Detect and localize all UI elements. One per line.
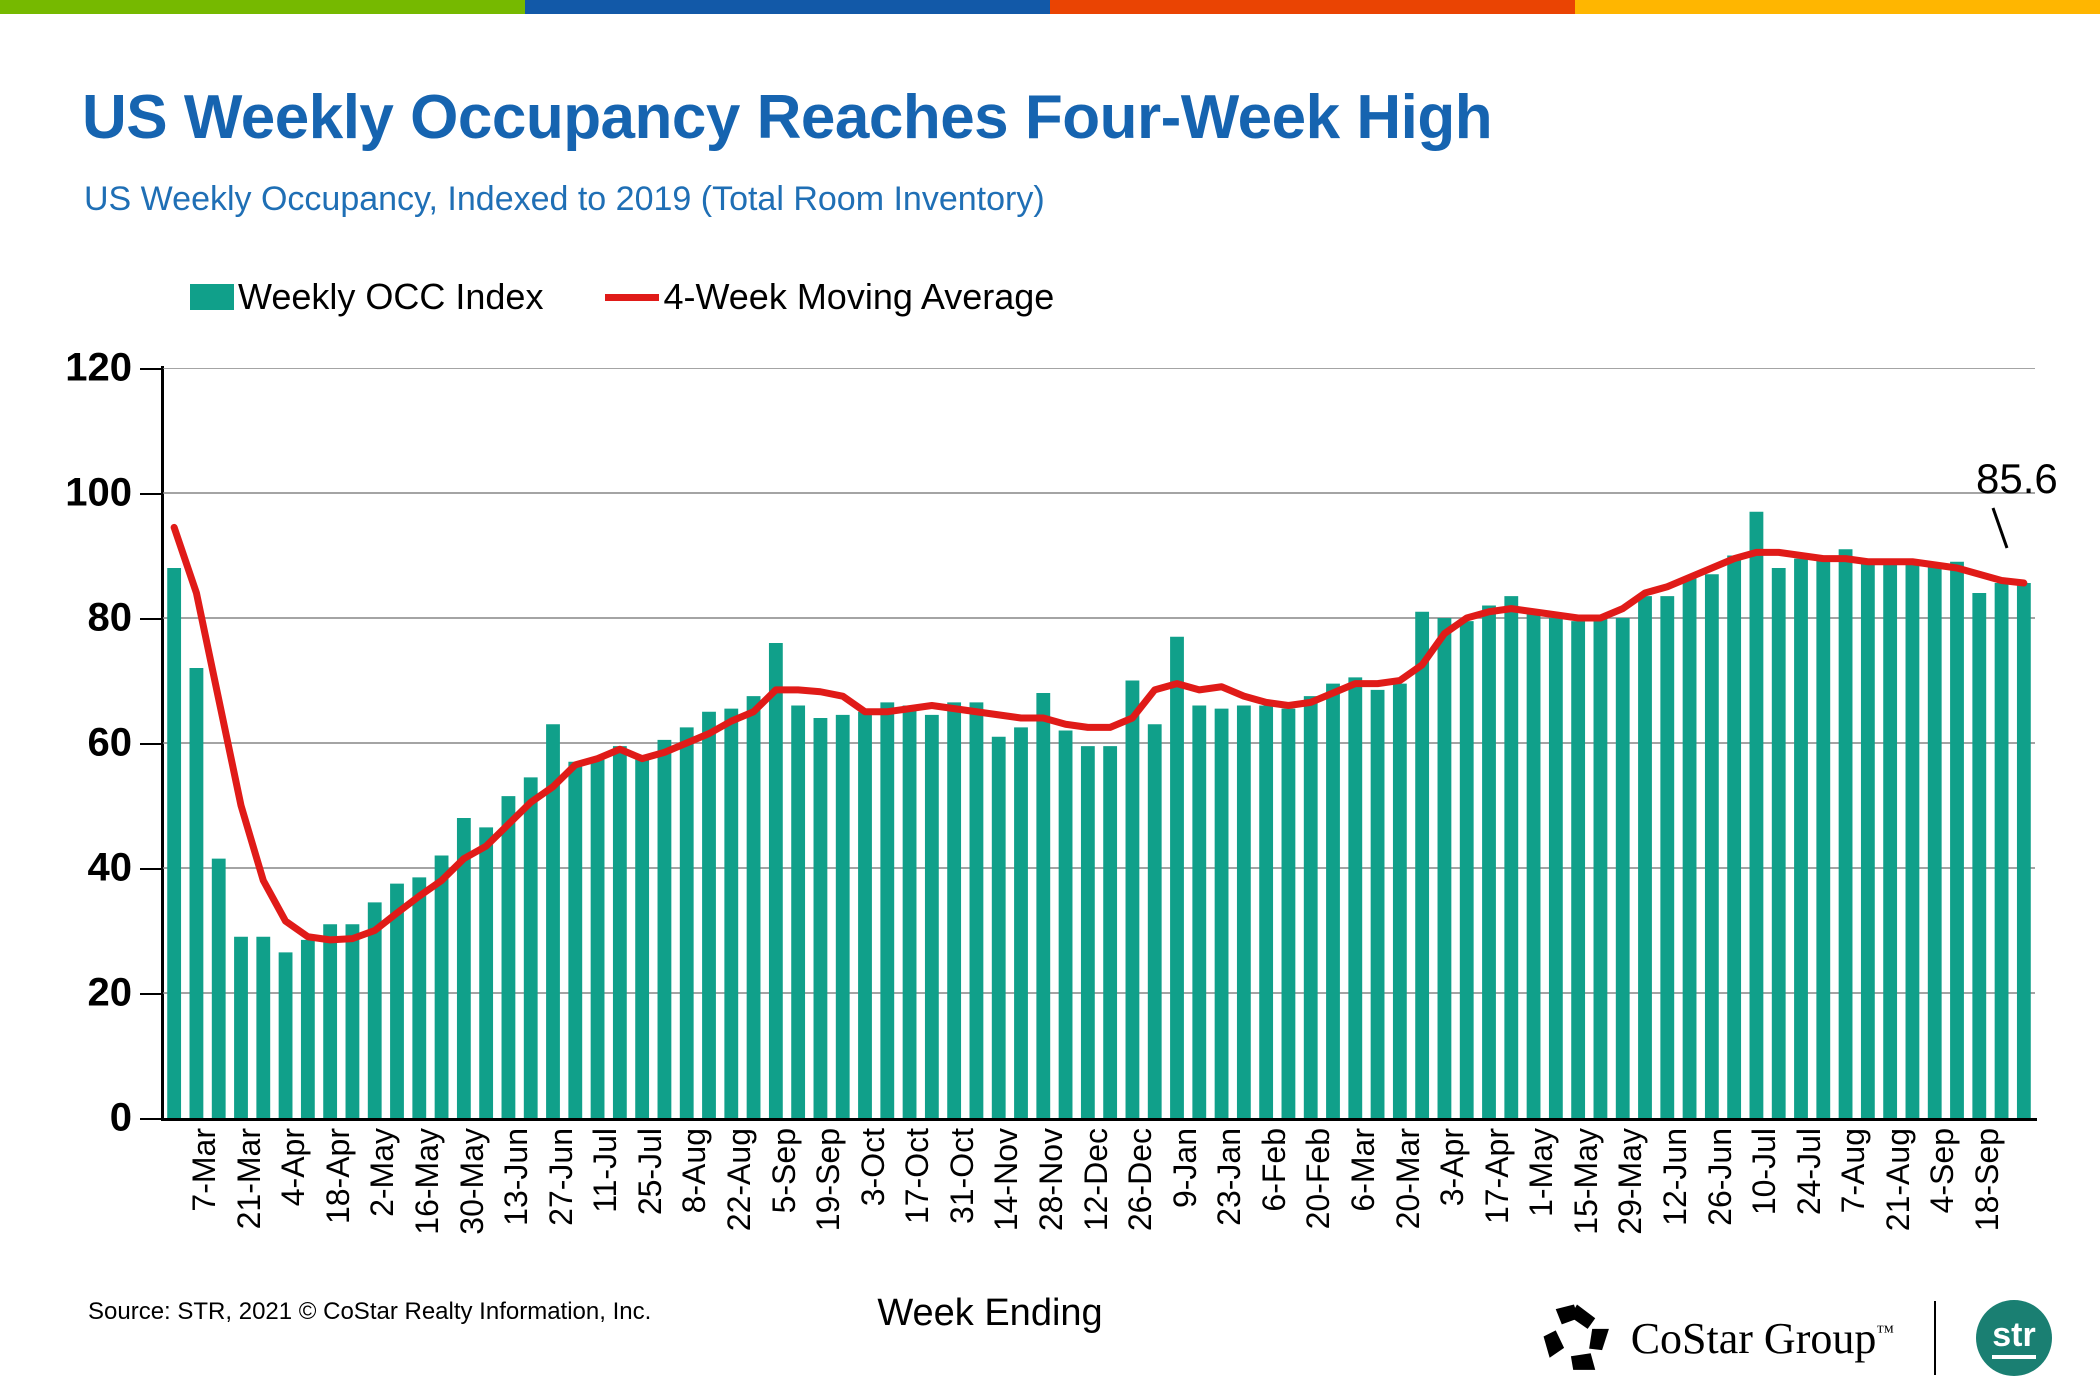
bar [1527, 612, 1541, 1118]
bar [1014, 727, 1028, 1118]
x-axis-tick-label: 18-Apr [320, 1128, 357, 1224]
bar [1348, 677, 1362, 1118]
y-axis-tick-label: 100 [12, 471, 132, 516]
x-axis-tick-label: 19-Sep [810, 1128, 847, 1231]
x-axis-tick-label: 18-Sep [1969, 1128, 2006, 1231]
bar [167, 568, 181, 1118]
bar [1972, 593, 1986, 1118]
x-axis-tick-label: 29-May [1612, 1128, 1649, 1235]
logo-divider [1934, 1301, 1936, 1375]
x-axis-tick-label: 14-Nov [988, 1128, 1025, 1231]
bar [591, 759, 605, 1118]
bar [1393, 684, 1407, 1118]
bar [658, 740, 672, 1118]
bar [1995, 583, 2009, 1118]
y-axis-tick [140, 368, 162, 370]
bar [702, 712, 716, 1118]
bar [1036, 693, 1050, 1118]
bar [1571, 621, 1585, 1118]
bar [947, 702, 961, 1118]
bar [858, 712, 872, 1118]
bar [1794, 559, 1808, 1118]
y-axis-tick-label: 120 [12, 346, 132, 391]
y-axis-tick-label: 40 [12, 846, 132, 891]
x-axis-tick-label: 26-Dec [1122, 1128, 1159, 1231]
bar [1616, 618, 1630, 1118]
chart-legend: Weekly OCC Index 4-Week Moving Average [190, 276, 1054, 318]
x-axis-title-text: Week Ending [877, 1292, 1102, 1334]
x-axis-tick-label: 26-Jun [1702, 1128, 1739, 1226]
bar [880, 702, 894, 1118]
bar [1638, 596, 1652, 1118]
x-axis-tick-label: 17-Apr [1479, 1128, 1516, 1224]
x-axis-tick-label: 25-Jul [632, 1128, 669, 1215]
x-axis-tick-label: 3-Oct [855, 1128, 892, 1206]
x-axis-tick-label: 4-Sep [1924, 1128, 1961, 1213]
x-axis-tick-label: 27-Jun [543, 1128, 580, 1226]
bar [1326, 684, 1340, 1118]
x-axis-tick-label: 5-Sep [766, 1128, 803, 1213]
bar [412, 877, 426, 1118]
bar [1148, 724, 1162, 1118]
bar [1683, 577, 1697, 1118]
bar [1816, 556, 1830, 1119]
bar [992, 737, 1006, 1118]
bar [1883, 562, 1897, 1118]
x-axis-tick-label: 1-May [1523, 1128, 1560, 1217]
y-axis-tick [140, 743, 162, 745]
bar [724, 709, 738, 1118]
footer-logos: CoStar Group™ str [1539, 1300, 2052, 1376]
bar [613, 746, 627, 1118]
x-axis-tick-label: 31-Oct [944, 1128, 981, 1224]
bar [212, 859, 226, 1118]
bar [680, 727, 694, 1118]
bar [1059, 731, 1073, 1119]
bar-series [167, 512, 2031, 1118]
bar [1415, 612, 1429, 1118]
bar [568, 762, 582, 1118]
bar [234, 937, 248, 1118]
y-axis-tick [140, 1118, 162, 1120]
str-logo: str [1976, 1300, 2052, 1376]
x-axis-tick-label: 17-Oct [899, 1128, 936, 1224]
x-axis-labels: 7-Mar21-Mar4-Apr18-Apr2-May16-May30-May1… [163, 1128, 2035, 1308]
legend-label-bar: Weekly OCC Index [238, 276, 543, 318]
last-value-annotation: 85.6 [1976, 455, 2058, 503]
bar [1081, 746, 1095, 1118]
legend-swatch-bar-icon [190, 284, 234, 310]
bar [903, 706, 917, 1119]
bar [435, 856, 449, 1119]
bar [1170, 637, 1184, 1118]
chart-svg [163, 368, 2035, 1118]
x-axis-tick-label: 6-Feb [1256, 1128, 1293, 1212]
bar [346, 924, 360, 1118]
y-axis-tick [140, 993, 162, 995]
y-axis-tick-label: 0 [12, 1096, 132, 1141]
brand-bar-blue [525, 0, 1050, 14]
costar-pinwheel-icon [1539, 1300, 1615, 1376]
bar [323, 924, 337, 1118]
bar [1304, 696, 1318, 1118]
bar [190, 668, 204, 1118]
bar [479, 827, 493, 1118]
x-axis-line [161, 1118, 2037, 1121]
x-axis-tick-label: 7-Aug [1835, 1128, 1872, 1213]
x-axis-tick-label: 24-Jul [1791, 1128, 1828, 1215]
bar [1705, 574, 1719, 1118]
x-axis-tick-label: 30-May [454, 1128, 491, 1235]
bar [1772, 568, 1786, 1118]
source-note: Source: STR, 2021 © CoStar Realty Inform… [88, 1298, 651, 1326]
page-subtitle: US Weekly Occupancy, Indexed to 2019 (To… [84, 180, 1045, 219]
x-axis-tick-label: 2-May [364, 1128, 401, 1217]
legend-line-icon [605, 294, 659, 301]
y-axis-tick-label: 80 [12, 596, 132, 641]
x-axis-tick-label: 8-Aug [676, 1128, 713, 1213]
bar [635, 759, 649, 1118]
bar [925, 715, 939, 1118]
x-axis-tick-label: 23-Jan [1211, 1128, 1248, 1226]
bar [814, 718, 828, 1118]
bar [1928, 565, 1942, 1118]
bar [1460, 621, 1474, 1118]
y-axis-tick-label: 20 [12, 971, 132, 1016]
y-axis-labels: 020406080100120 [0, 0, 132, 1400]
bar [747, 696, 761, 1118]
bar [791, 706, 805, 1119]
brand-bar-orange [1050, 0, 1575, 14]
bar [2017, 583, 2031, 1118]
bar [1950, 562, 1964, 1118]
trademark-icon: ™ [1876, 1321, 1894, 1341]
bar [1259, 706, 1273, 1119]
x-axis-tick-label: 9-Jan [1167, 1128, 1204, 1208]
bar [279, 952, 293, 1118]
moving-average-line [174, 527, 2024, 940]
x-axis-tick-label: 28-Nov [1033, 1128, 1070, 1231]
bar [1103, 746, 1117, 1118]
legend-label-line: 4-Week Moving Average [663, 276, 1054, 318]
x-axis-tick-label: 21-Mar [231, 1128, 268, 1229]
plot-area [163, 368, 2035, 1118]
bar [769, 643, 783, 1118]
y-axis-tick [140, 618, 162, 620]
x-axis-tick-label: 15-May [1568, 1128, 1605, 1235]
costar-group-wordmark: CoStar Group™ [1631, 1313, 1894, 1364]
brand-color-bar [0, 0, 2100, 14]
bar [1237, 706, 1251, 1119]
x-axis-tick-label: 12-Dec [1078, 1128, 1115, 1231]
bar [1215, 709, 1229, 1118]
bar [836, 715, 850, 1118]
y-axis-tick-label: 60 [12, 721, 132, 766]
bar [1750, 512, 1764, 1118]
x-axis-tick-label: 20-Feb [1300, 1128, 1337, 1229]
costar-group-logo: CoStar Group™ [1539, 1300, 1894, 1376]
x-axis-tick-label: 16-May [409, 1128, 446, 1235]
bar [1727, 556, 1741, 1119]
x-axis-tick-label: 7-Mar [186, 1128, 223, 1212]
bar [970, 702, 984, 1118]
bar [1549, 618, 1563, 1118]
x-axis-tick-label: 22-Aug [721, 1128, 758, 1231]
bar [1371, 690, 1385, 1118]
bar [524, 777, 538, 1118]
bar [1126, 681, 1140, 1119]
bar [1282, 709, 1296, 1118]
brand-bar-yellow [1575, 0, 2100, 14]
x-axis-tick-label: 4-Apr [275, 1128, 312, 1206]
bar [256, 937, 270, 1118]
x-axis-tick-label: 13-Jun [498, 1128, 535, 1226]
bar [1861, 562, 1875, 1118]
x-axis-tick-label: 21-Aug [1880, 1128, 1917, 1231]
bar [1594, 618, 1608, 1118]
bar [502, 796, 516, 1118]
y-axis-tick [140, 868, 162, 870]
bar [301, 940, 315, 1118]
x-axis-tick-label: 10-Jul [1746, 1128, 1783, 1215]
bar [1192, 706, 1206, 1119]
bar [1660, 596, 1674, 1118]
x-axis-tick-label: 3-Apr [1434, 1128, 1471, 1206]
str-wordmark: str [1992, 1318, 2035, 1359]
bar [1839, 549, 1853, 1118]
x-axis-tick-label: 11-Jul [587, 1128, 624, 1213]
x-axis-tick-label: 12-Jun [1657, 1128, 1694, 1226]
y-axis-tick [140, 493, 162, 495]
bar [1438, 618, 1452, 1118]
bar [1482, 606, 1496, 1119]
x-axis-tick-label: 20-Mar [1390, 1128, 1427, 1229]
x-axis-tick-label: 6-Mar [1345, 1128, 1382, 1212]
page-title: US Weekly Occupancy Reaches Four-Week Hi… [82, 82, 1492, 153]
bar [1504, 596, 1518, 1118]
bar [1906, 562, 1920, 1118]
